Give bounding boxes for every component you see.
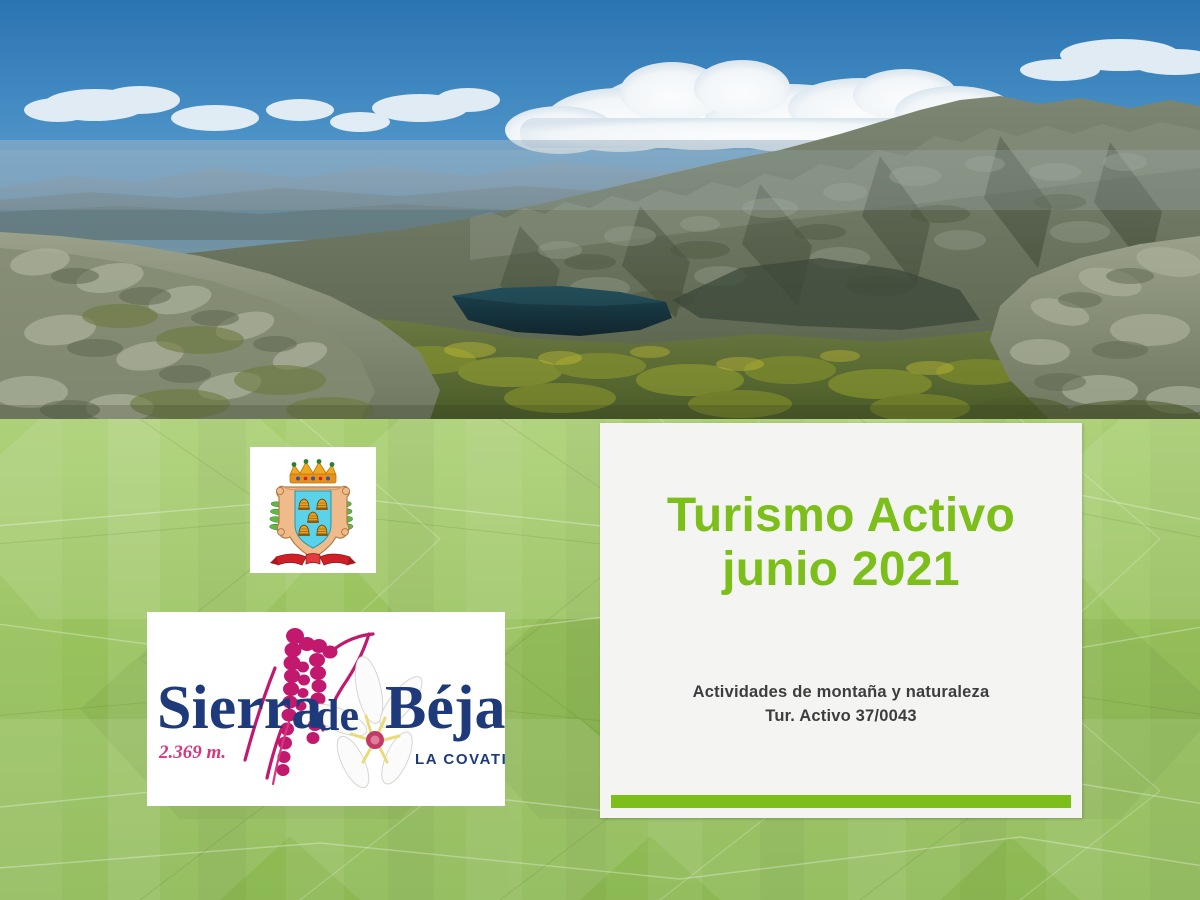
title-block: Turismo Activo junio 2021 xyxy=(600,489,1082,597)
title-line-2: junio 2021 xyxy=(616,543,1066,597)
subtitle-line-1: Actividades de montaña y naturaleza xyxy=(614,681,1068,705)
subtitle-block: Actividades de montaña y naturaleza Tur.… xyxy=(600,681,1082,729)
mountain-photo xyxy=(0,0,1200,420)
title-card: Turismo Activo junio 2021 Actividades de… xyxy=(600,423,1082,818)
sierra-de-bejar-logo: Sierra de Béjar 2.369 m. LA COVATILLA xyxy=(147,612,505,806)
presentation-slide: Sierra de Béjar 2.369 m. LA COVATILLA Tu… xyxy=(0,0,1200,900)
logo-word-sierra: Sierra xyxy=(157,674,322,742)
logo-word-bejar: Béjar xyxy=(385,674,505,742)
accent-bar xyxy=(611,795,1071,808)
logo-altitude: 2.369 m. xyxy=(158,742,226,763)
logo-resort-name: LA COVATILLA xyxy=(415,751,505,768)
logo-word-de: de xyxy=(315,691,359,740)
subtitle-line-2: Tur. Activo 37/0043 xyxy=(614,705,1068,729)
bejar-coat-of-arms xyxy=(250,447,376,573)
title-line-1: Turismo Activo xyxy=(616,489,1066,543)
